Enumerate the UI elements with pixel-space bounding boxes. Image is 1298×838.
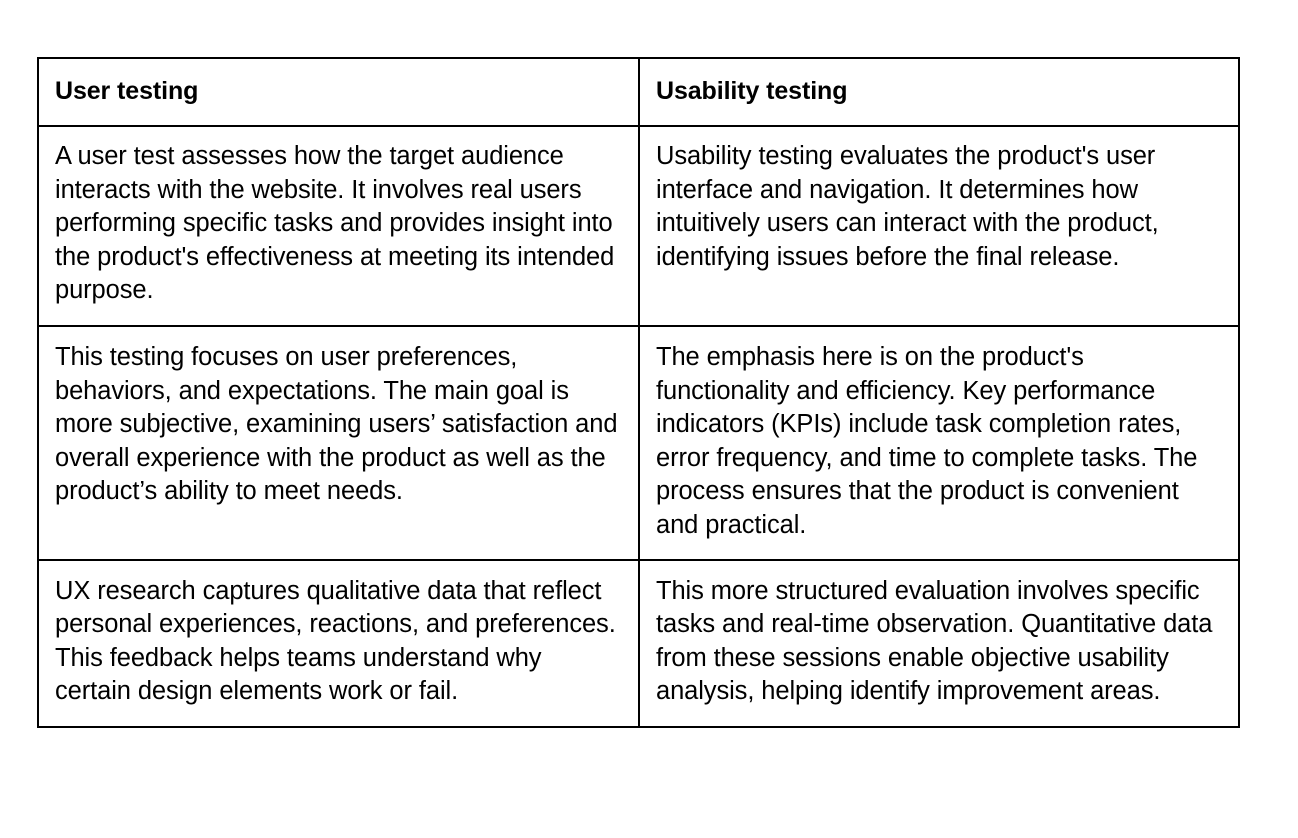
table-header-row: User testing Usability testing bbox=[38, 58, 1239, 126]
table-row: This testing focuses on user preferences… bbox=[38, 326, 1239, 560]
cell-usability-testing-3: This more structured evaluation involves… bbox=[639, 560, 1239, 727]
column-header-usability-testing: Usability testing bbox=[639, 58, 1239, 126]
cell-user-testing-1: A user test assesses how the target audi… bbox=[38, 126, 639, 326]
table-row: UX research captures qualitative data th… bbox=[38, 560, 1239, 727]
table-body: A user test assesses how the target audi… bbox=[38, 126, 1239, 727]
table-row: A user test assesses how the target audi… bbox=[38, 126, 1239, 326]
cell-usability-testing-1: Usability testing evaluates the product'… bbox=[639, 126, 1239, 326]
cell-user-testing-3: UX research captures qualitative data th… bbox=[38, 560, 639, 727]
column-header-user-testing: User testing bbox=[38, 58, 639, 126]
cell-usability-testing-2: The emphasis here is on the product's fu… bbox=[639, 326, 1239, 560]
page-canvas: User testing Usability testing A user te… bbox=[0, 0, 1298, 838]
comparison-table: User testing Usability testing A user te… bbox=[37, 57, 1240, 728]
cell-user-testing-2: This testing focuses on user preferences… bbox=[38, 326, 639, 560]
table-header: User testing Usability testing bbox=[38, 58, 1239, 126]
